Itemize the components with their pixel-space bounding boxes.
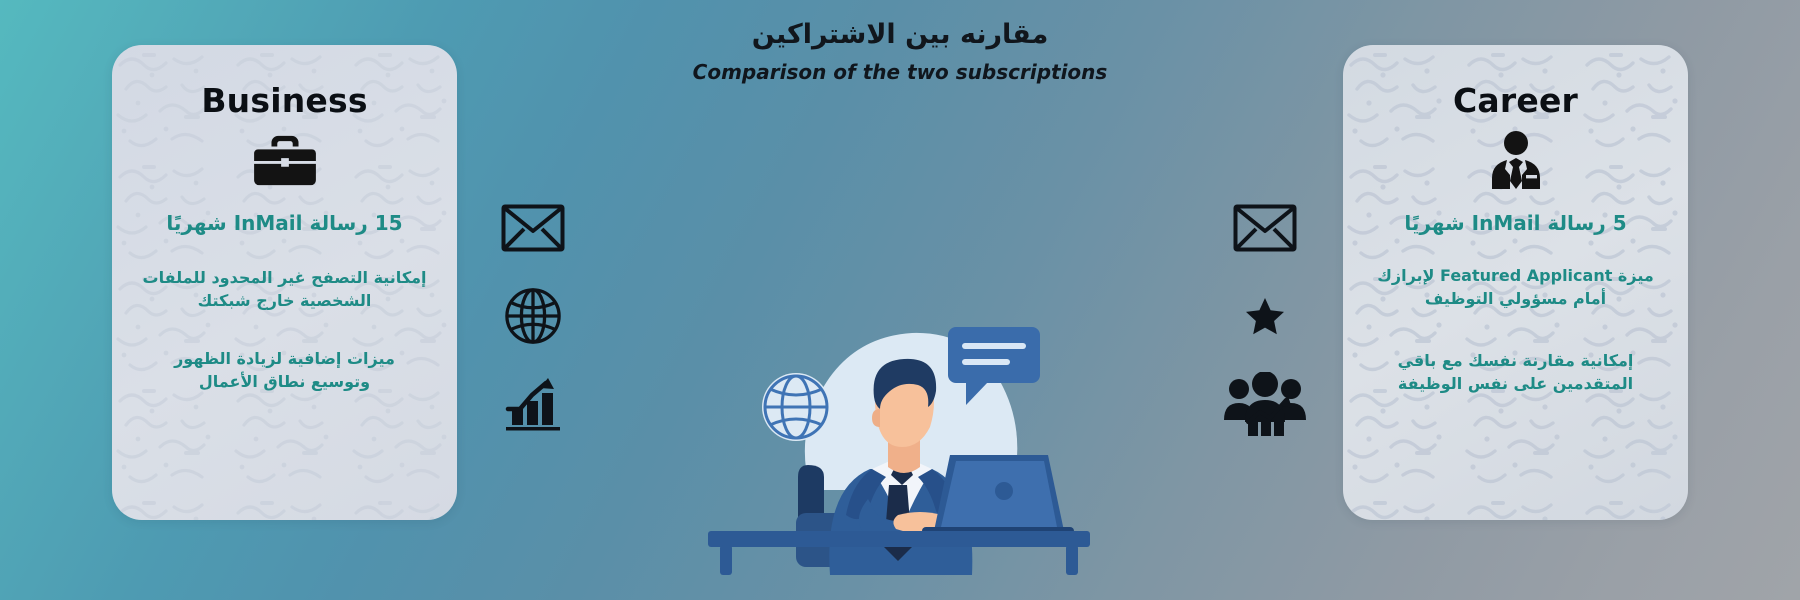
envelope-icon [501,185,565,271]
people-chart-icon [1222,361,1308,447]
briefcase-icon [254,131,316,189]
feature-item: 15 رسالة InMail شهريًا [136,209,433,238]
globe-icon [504,273,562,359]
plan-title-business: Business [201,83,367,119]
business-person-icon [1488,131,1544,189]
globe-graphic [762,373,830,441]
envelope-icon [1233,185,1297,271]
feature-item: إمكانية مقارنة نفسك مع باقي المتقدمين عل… [1367,349,1664,395]
page-title-arabic: مقارنه بين الاشتراكين [0,18,1800,52]
plan-card-business[interactable]: Business 15 رسالة InMail شهريًا إمكانية … [112,45,457,520]
star-icon [1245,273,1285,359]
businessman-at-laptop-illustration [700,275,1100,579]
bar-chart-growth-icon [502,361,564,447]
feature-item: 5 رسالة InMail شهريًا [1367,209,1664,238]
plan-card-career[interactable]: Career 5 رسالة InMail شهريًا ميزة Featur… [1343,45,1688,520]
feature-item: ميزة Featured Applicant لإبرازك أمام مسؤ… [1367,264,1664,310]
icon-column-career [1205,185,1325,447]
page-subtitle-english: Comparison of the two subscriptions [0,60,1800,84]
page-header: مقارنه بين الاشتراكين Comparison of the … [0,18,1800,84]
feature-list-career: 5 رسالة InMail شهريًا ميزة Featured Appl… [1367,201,1664,395]
feature-list-business: 15 رسالة InMail شهريًا إمكانية التصفح غي… [136,201,433,393]
icon-column-business [473,185,593,447]
plan-title-career: Career [1453,83,1578,119]
feature-item: إمكانية التصفح غير المحدود للملفات الشخص… [136,266,433,312]
feature-item: ميزات إضافية لزيادة الظهور وتوسيع نطاق ا… [136,347,433,393]
